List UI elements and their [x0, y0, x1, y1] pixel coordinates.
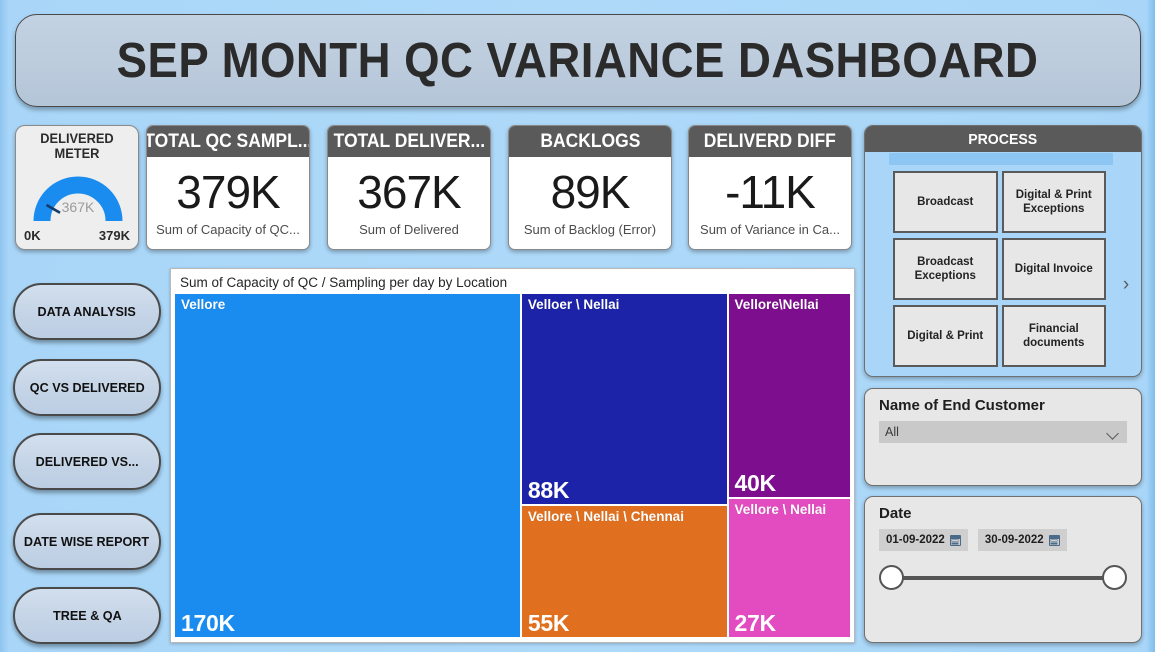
treemap-visual: Sum of Capacity of QC / Sampling per day…: [170, 268, 855, 643]
sidebar-item-label: DATE WISE REPORT: [24, 534, 149, 549]
delivered-meter-card: DELIVERED METER 367K 0K 379K: [15, 125, 139, 250]
date-end-value: 30-09-2022: [985, 534, 1044, 546]
gauge-arc-icon: [16, 163, 140, 225]
delivered-meter-title: DELIVERED METER: [19, 131, 135, 161]
date-slicer-inputs: 01-09-2022 30-09-2022: [879, 529, 1127, 551]
treemap-tile-value: 27K: [735, 610, 776, 636]
kpi-subtitle: Sum of Backlog (Error): [524, 222, 656, 238]
treemap-tile-value: 170K: [181, 610, 235, 636]
gauge-value-label: 367K: [16, 199, 140, 215]
date-slider-track: [891, 576, 1115, 580]
kpi-value: 367K: [357, 165, 460, 219]
process-slicer-header: PROCESS: [865, 126, 1141, 152]
treemap-column-left: Vellore 170K: [175, 294, 520, 637]
kpi-card-body: 367K Sum of Delivered: [328, 157, 490, 249]
sidebar-item-data-analysis[interactable]: DATA ANALYSIS: [13, 283, 161, 340]
kpi-card-delivered-diff[interactable]: DELIVERD DIFF -11K Sum of Variance in Ca…: [688, 125, 852, 250]
date-start-value: 01-09-2022: [886, 534, 945, 546]
kpi-subtitle: Sum of Capacity of QC...: [156, 222, 300, 238]
chevron-down-icon: [1108, 429, 1119, 436]
kpi-card-body: -11K Sum of Variance in Ca...: [689, 157, 851, 249]
calendar-icon: [950, 535, 961, 546]
sidebar-item-qc-vs-delivered[interactable]: QC VS DELIVERED: [13, 359, 161, 416]
kpi-card-header: TOTAL DELIVER...: [328, 126, 490, 157]
treemap-plot-area: Vellore 170K Velloer \ Nellai 88K Vellor…: [175, 294, 850, 637]
kpi-value: 379K: [176, 165, 279, 219]
process-item-digital-print-exceptions[interactable]: Digital & Print Exceptions: [1002, 171, 1107, 233]
sidebar-item-label: DATA ANALYSIS: [38, 304, 136, 319]
treemap-tile-vellore[interactable]: Vellore 170K: [175, 294, 520, 637]
treemap-tile-vellore-nellai-pink[interactable]: Vellore \ Nellai 27K: [729, 499, 850, 637]
date-slicer-card: Date 01-09-2022 30-09-2022: [864, 496, 1142, 643]
treemap-title: Sum of Capacity of QC / Sampling per day…: [175, 273, 850, 294]
kpi-card-header: BACKLOGS: [509, 126, 671, 157]
kpi-subtitle: Sum of Variance in Ca...: [700, 222, 840, 238]
kpi-card-header: TOTAL QC SAMPL...: [147, 126, 309, 157]
gauge-scale: 0K 379K: [24, 228, 130, 243]
customer-dropdown[interactable]: All: [879, 421, 1127, 443]
process-scroll-strip[interactable]: [889, 153, 1113, 165]
treemap-column-middle: Velloer \ Nellai 88K Vellore \ Nellai \ …: [522, 294, 727, 637]
kpi-card-body: 89K Sum of Backlog (Error): [509, 157, 671, 249]
treemap-tile-value: 55K: [528, 610, 569, 636]
customer-slicer-heading: Name of End Customer: [879, 397, 1127, 414]
process-item-broadcast[interactable]: Broadcast: [893, 171, 998, 233]
treemap-tile-label: Vellore \ Nellai: [735, 502, 827, 517]
page-title: SEP MONTH QC VARIANCE DASHBOARD: [117, 33, 1039, 89]
date-range-slider[interactable]: [879, 565, 1127, 591]
treemap-column-right: Vellore\Nellai 40K Vellore \ Nellai 27K: [729, 294, 850, 637]
treemap-tile-value: 40K: [735, 470, 776, 496]
gauge-max-label: 379K: [99, 228, 130, 243]
sidebar-item-date-wise-report[interactable]: DATE WISE REPORT: [13, 513, 161, 570]
date-slider-handle-end[interactable]: [1102, 565, 1127, 590]
kpi-value: 89K: [551, 165, 630, 219]
date-slider-handle-start[interactable]: [879, 565, 904, 590]
kpi-subtitle: Sum of Delivered: [359, 222, 459, 238]
date-slicer-heading: Date: [879, 505, 1127, 522]
treemap-tile-label: Vellore: [181, 297, 225, 312]
customer-slicer-card: Name of End Customer All: [864, 388, 1142, 486]
treemap-tile-label: Vellore\Nellai: [735, 297, 819, 312]
sidebar-item-label: DELIVERED VS...: [35, 454, 138, 469]
process-item-financial-documents[interactable]: Financial documents: [1002, 305, 1107, 367]
kpi-card-total-qc-samples[interactable]: TOTAL QC SAMPL... 379K Sum of Capacity o…: [146, 125, 310, 250]
kpi-card-backlogs[interactable]: BACKLOGS 89K Sum of Backlog (Error): [508, 125, 672, 250]
chevron-right-icon[interactable]: ›: [1116, 273, 1136, 297]
delivered-meter-title-line1: DELIVERED: [19, 131, 135, 146]
sidebar-item-tree-and-qa[interactable]: TREE & QA: [13, 587, 161, 644]
sidebar-item-label: TREE & QA: [53, 608, 122, 623]
delivered-meter-title-line2: METER: [19, 146, 135, 161]
dashboard-title-banner: SEP MONTH QC VARIANCE DASHBOARD: [15, 14, 1141, 107]
sidebar-item-delivered-vs[interactable]: DELIVERED VS...: [13, 433, 161, 490]
treemap-tile-value: 88K: [528, 477, 569, 503]
customer-dropdown-value: All: [885, 425, 899, 439]
kpi-card-body: 379K Sum of Capacity of QC...: [147, 157, 309, 249]
treemap-tile-vellore-nellai-chennai[interactable]: Vellore \ Nellai \ Chennai 55K: [522, 506, 727, 637]
kpi-card-total-delivered[interactable]: TOTAL DELIVER... 367K Sum of Delivered: [327, 125, 491, 250]
gauge-visual: 367K: [16, 163, 140, 225]
treemap-tile-vellore-nellai-purple[interactable]: Vellore\Nellai 40K: [729, 294, 850, 497]
treemap-tile-label: Velloer \ Nellai: [528, 297, 620, 312]
process-item-broadcast-exceptions[interactable]: Broadcast Exceptions: [893, 238, 998, 300]
kpi-value: -11K: [725, 165, 815, 219]
kpi-card-header: DELIVERD DIFF: [689, 126, 851, 157]
date-start-field[interactable]: 01-09-2022: [879, 529, 968, 551]
process-slicer-grid: Broadcast Digital & Print Exceptions Bro…: [893, 171, 1106, 367]
gauge-min-label: 0K: [24, 228, 41, 243]
process-item-digital-print[interactable]: Digital & Print: [893, 305, 998, 367]
process-item-digital-invoice[interactable]: Digital Invoice: [1002, 238, 1107, 300]
treemap-tile-velloer-nellai[interactable]: Velloer \ Nellai 88K: [522, 294, 727, 504]
process-slicer-card: PROCESS Broadcast Digital & Print Except…: [864, 125, 1142, 377]
treemap-tile-label: Vellore \ Nellai \ Chennai: [528, 509, 684, 524]
calendar-icon: [1049, 535, 1060, 546]
sidebar-item-label: QC VS DELIVERED: [30, 380, 145, 395]
date-end-field[interactable]: 30-09-2022: [978, 529, 1067, 551]
